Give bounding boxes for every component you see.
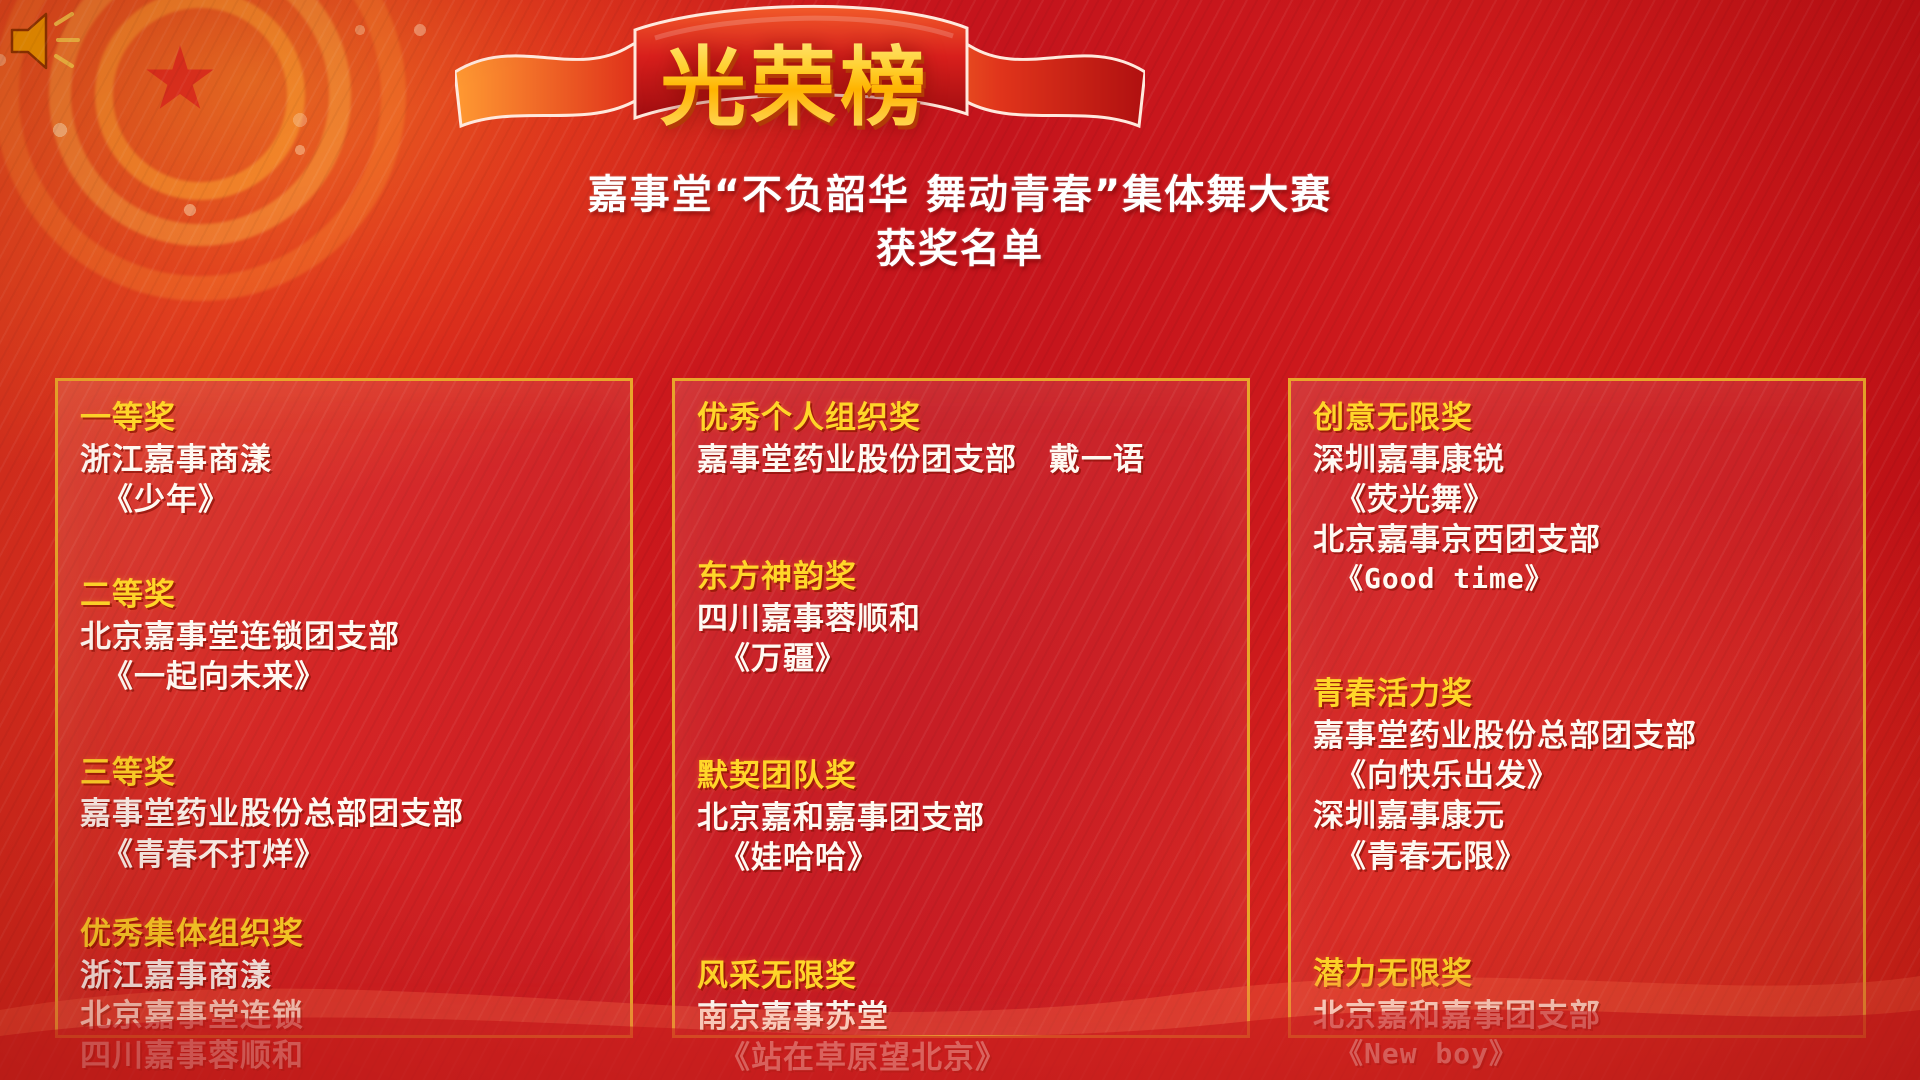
award-spacer — [1313, 623, 1841, 675]
award-song-title: 《万疆》 — [697, 639, 1225, 679]
award-block: 优秀个人组织奖嘉事堂药业股份团支部 戴一语 — [697, 399, 1225, 480]
award-title: 二等奖 — [80, 576, 608, 615]
poster-stage: 光荣榜 嘉事堂“不负韶华 舞动青春”集体舞大赛 获奖名单 一等奖浙江嘉事商漾《少… — [0, 0, 1920, 1080]
wave-decoration — [0, 890, 1920, 1080]
award-team-name: 四川嘉事蓉顺和 — [697, 599, 1225, 639]
award-team-name: 嘉事堂药业股份团支部 戴一语 — [697, 440, 1225, 480]
award-team-name: 北京嘉和嘉事团支部 — [697, 798, 1225, 838]
award-block: 东方神韵奖四川嘉事蓉顺和《万疆》 — [697, 558, 1225, 679]
award-title: 东方神韵奖 — [697, 558, 1225, 597]
award-spacer — [80, 546, 608, 576]
award-spacer — [80, 724, 608, 754]
award-team-name: 浙江嘉事商漾 — [80, 440, 608, 480]
award-song-title: 《青春无限》 — [1313, 837, 1841, 877]
award-team-name: 嘉事堂药业股份总部团支部 — [80, 794, 608, 834]
award-title: 青春活力奖 — [1313, 675, 1841, 714]
award-song-title: 《Good time》 — [1313, 561, 1841, 597]
award-spacer — [697, 506, 1225, 558]
award-team-name: 深圳嘉事康元 — [1313, 796, 1841, 836]
award-title: 一等奖 — [80, 399, 608, 438]
award-team-name: 深圳嘉事康锐 — [1313, 440, 1841, 480]
award-team-name: 北京嘉事堂连锁团支部 — [80, 617, 608, 657]
award-song-title: 《一起向未来》 — [80, 657, 608, 697]
award-team-name: 北京嘉事京西团支部 — [1313, 520, 1841, 560]
award-block: 默契团队奖北京嘉和嘉事团支部《娃哈哈》 — [697, 757, 1225, 878]
award-song-title: 《荧光舞》 — [1313, 480, 1841, 520]
award-song-title: 《青春不打烊》 — [80, 835, 608, 875]
award-title: 默契团队奖 — [697, 757, 1225, 796]
award-block: 二等奖北京嘉事堂连锁团支部《一起向未来》 — [80, 576, 608, 697]
award-team-name: 嘉事堂药业股份总部团支部 — [1313, 716, 1841, 756]
award-title: 优秀个人组织奖 — [697, 399, 1225, 438]
award-block: 创意无限奖深圳嘉事康锐《荧光舞》北京嘉事京西团支部《Good time》 — [1313, 399, 1841, 597]
award-title: 创意无限奖 — [1313, 399, 1841, 438]
award-song-title: 《少年》 — [80, 480, 608, 520]
award-spacer — [697, 705, 1225, 757]
award-block: 青春活力奖嘉事堂药业股份总部团支部《向快乐出发》深圳嘉事康元《青春无限》 — [1313, 675, 1841, 877]
award-song-title: 《娃哈哈》 — [697, 838, 1225, 878]
award-title: 三等奖 — [80, 754, 608, 793]
award-block: 一等奖浙江嘉事商漾《少年》 — [80, 399, 608, 520]
award-song-title: 《向快乐出发》 — [1313, 756, 1841, 796]
award-block: 三等奖嘉事堂药业股份总部团支部《青春不打烊》 — [80, 754, 608, 875]
